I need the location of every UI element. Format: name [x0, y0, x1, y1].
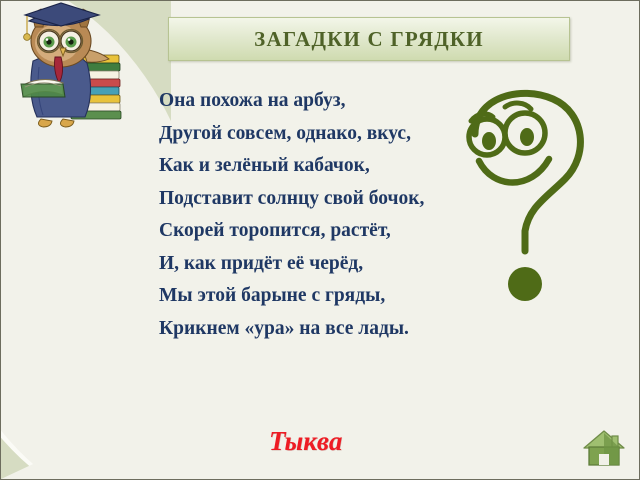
- riddle-line: Она похожа на арбуз,: [159, 85, 489, 118]
- riddle-line: Крикнем «ура» на все лады.: [159, 313, 489, 346]
- riddle-line: Как и зелёный кабачок,: [159, 150, 489, 183]
- slide-canvas: ЗАГАДКИ С ГРЯДКИ Она похожа: [0, 0, 640, 480]
- page-title: ЗАГАДКИ С ГРЯДКИ: [254, 27, 484, 52]
- bottom-corner-cut: [1, 437, 91, 479]
- riddle-line: И, как придёт её черёд,: [159, 248, 489, 281]
- riddle-line: Другой совсем, однако, вкус,: [159, 118, 489, 151]
- slide-title-banner: ЗАГАДКИ С ГРЯДКИ: [168, 17, 570, 61]
- riddle-line: Мы этой барыне с гряды,: [159, 280, 489, 313]
- riddle-line: Скорей торопится, растёт,: [159, 215, 489, 248]
- riddle-answer: Тыква: [269, 426, 342, 457]
- riddle-text-block: Она похожа на арбуз, Другой совсем, одна…: [159, 85, 489, 345]
- home-button[interactable]: [581, 427, 627, 469]
- riddle-line: Подставит солнцу свой бочок,: [159, 183, 489, 216]
- owl-scholar-icon: [5, 1, 127, 129]
